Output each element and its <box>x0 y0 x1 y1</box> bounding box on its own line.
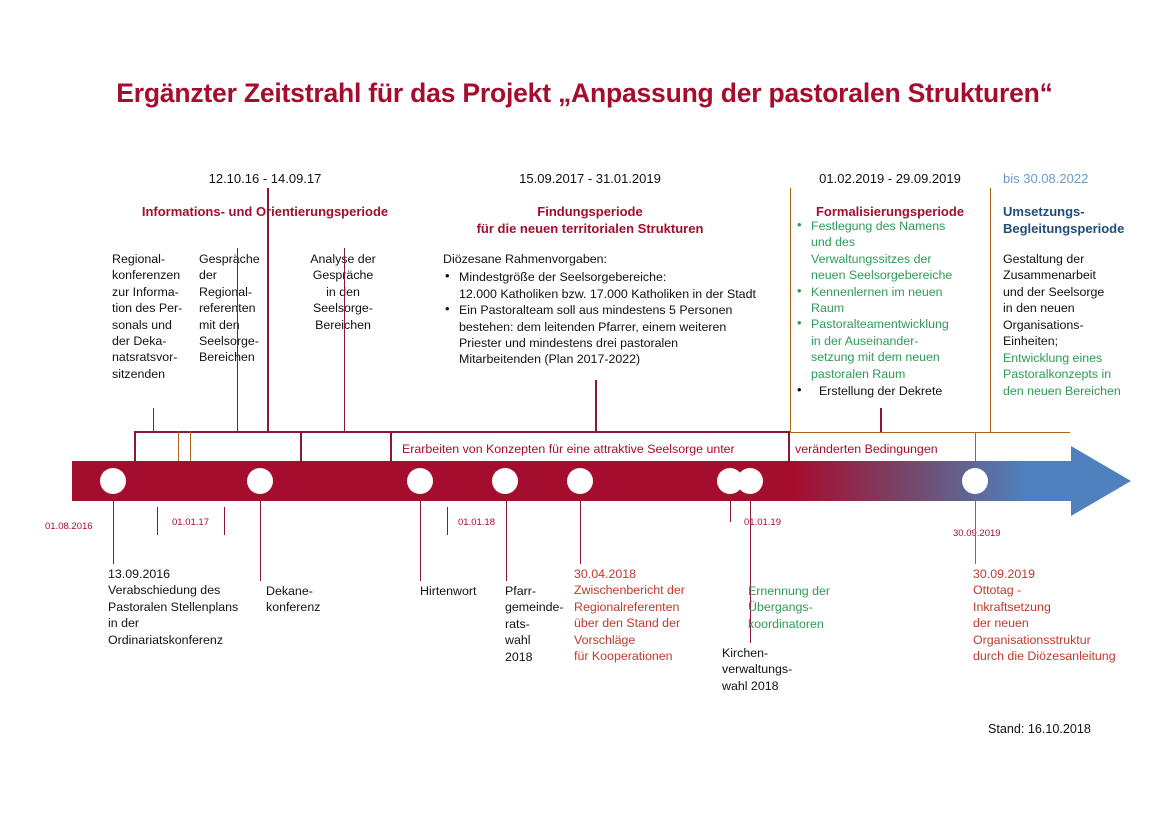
formalisierung-bullet-3: Pastoralteamentwicklung in der Auseinand… <box>797 316 992 382</box>
connector-line-2 <box>237 248 238 432</box>
period-header-findung: 15.09.2017 - 31.01.2019 Findungsperiode … <box>400 170 780 237</box>
milestone-date: 13.09.2016 <box>108 566 278 582</box>
timeline-node[interactable] <box>567 468 593 494</box>
formalisierung-bullet-1: Festlegung des Namens und des Verwaltung… <box>797 218 992 284</box>
findung-bullet-2: Ein Pastoralteam soll aus mindestens 5 P… <box>443 302 793 368</box>
timeline-node[interactable] <box>737 468 763 494</box>
period-range-informations: 12.10.16 - 14.09.17 <box>130 170 400 187</box>
leader-line-11 <box>975 494 976 564</box>
column-umsetzung-black: Gestaltung der Zusammenarbeit und der Se… <box>1003 251 1163 349</box>
milestone-ottotag: 30.09.2019 Ottotag - Inkraftsetzung der … <box>973 566 1163 664</box>
milestone-text: Zwischenbericht der Regionalreferenten ü… <box>574 582 729 664</box>
milestone-date: 30.04.2018 <box>574 566 729 582</box>
axis-date-label: 30.09.2019 <box>953 528 1001 539</box>
period-title-findung-line1: Findungsperiode <box>400 203 780 220</box>
leader-line-6 <box>447 507 448 535</box>
axis-date-label: 01.01.18 <box>458 517 495 528</box>
milestone-hirtenwort: Hirtenwort <box>420 583 502 599</box>
milestone-verabschiedung-stellenplan: 13.09.2016 Verabschiedung des Pastoralen… <box>108 566 278 648</box>
timeline-arrow-head <box>1071 446 1131 516</box>
bracket-label-part2: veränderten Bedingungen <box>795 442 938 456</box>
connector-line-3 <box>267 188 269 432</box>
axis-date-label: 01.01.17 <box>172 517 209 528</box>
timeline-node[interactable] <box>247 468 273 494</box>
leader-line-8 <box>580 494 581 564</box>
period-title-umsetzung-line2: Begleitungsperiode <box>1003 220 1163 237</box>
period-header-informations: 12.10.16 - 14.09.17 Informations- und Or… <box>130 170 400 220</box>
leader-line-5 <box>420 494 421 581</box>
milestone-kirchenverwaltungswahl: Kirchen- verwaltungs- wahl 2018 <box>722 645 827 694</box>
leader-line-1 <box>113 494 114 564</box>
period-title-umsetzung-line1: Umsetzungs- <box>1003 203 1163 220</box>
milestone-zwischenbericht: 30.04.2018 Zwischenbericht der Regionalr… <box>574 566 729 664</box>
formalisierung-bullet-list: Festlegung des Namens und des Verwaltung… <box>797 218 992 399</box>
timeline-node[interactable] <box>492 468 518 494</box>
column-analyse: Analyse der Gespräche in den Seelsorge- … <box>297 251 389 333</box>
column-regionalkonferenzen: Regional- konferenzen zur Informa- tion … <box>112 251 192 382</box>
connector-line-7 <box>880 408 882 432</box>
leader-line-7 <box>506 494 507 581</box>
milestone-text: Verabschiedung des Pastoralen Stellenpla… <box>108 582 278 648</box>
period-range-findung: 15.09.2017 - 31.01.2019 <box>400 170 780 187</box>
period-range-umsetzung: bis 30.08.2022 <box>1003 170 1163 187</box>
formalisierung-bullet-4: Erstellung der Dekrete <box>797 383 992 399</box>
bracket-label-part1: Erarbeiten von Konzepten für eine attrak… <box>402 442 735 456</box>
page-title: Ergänzter Zeitstrahl für das Projekt „An… <box>0 78 1169 109</box>
milestone-date: 30.09.2019 <box>973 566 1163 582</box>
leader-line-9 <box>730 494 731 522</box>
leader-line-2 <box>157 507 158 535</box>
formalisierung-body: Festlegung des Namens und des Verwaltung… <box>797 218 992 399</box>
column-umsetzung-green: Entwicklung eines Pastoralkonzepts in de… <box>1003 350 1165 399</box>
bracket-tick-1 <box>134 431 136 461</box>
findung-intro: Diözesane Rahmenvorgaben: <box>443 251 793 267</box>
connector-line-4 <box>344 248 345 432</box>
milestone-ernennung-uebergangskoordinatoren: Ernennung der Übergangs- koordinatoren <box>748 583 868 632</box>
findung-bullet-list: Mindestgröße der Seelsorgebereiche: 12.0… <box>443 269 793 367</box>
period-header-umsetzung: bis 30.08.2022 Umsetzungs- Begleitungspe… <box>1003 170 1163 237</box>
period-header-formalisierung: 01.02.2019 - 29.09.2019 Formalisierungsp… <box>790 170 990 220</box>
findung-body: Diözesane Rahmenvorgaben: Mindestgröße d… <box>443 251 793 368</box>
timeline-node[interactable] <box>962 468 988 494</box>
bracket-tick-5 <box>390 431 392 461</box>
connector-line-6 <box>790 188 791 432</box>
connector-line-8 <box>990 188 991 432</box>
milestone-dekanekonferenz: Dekane- konferenz <box>266 583 356 616</box>
period-title-findung-line2: für die neuen territorialen Strukturen <box>400 220 780 237</box>
bracket-tick-3 <box>190 431 191 461</box>
bracket-tick-6 <box>788 431 790 461</box>
bracket-tick-7 <box>975 432 976 461</box>
leader-line-3 <box>224 507 225 535</box>
bracket-tick-2 <box>178 431 179 461</box>
stand-label: Stand: 16.10.2018 <box>988 722 1091 736</box>
period-title-informations: Informations- und Orientierungsperiode <box>130 203 400 220</box>
connector-line-5 <box>595 380 597 432</box>
timeline-node[interactable] <box>100 468 126 494</box>
bracket-tick-4 <box>300 431 302 461</box>
formalisierung-bullet-2: Kennenlernen im neuen Raum <box>797 284 992 317</box>
milestone-pfarrgemeinderatswahl: Pfarr- gemeinde- rats- wahl 2018 <box>505 583 577 665</box>
bracket-line-right <box>790 432 1070 433</box>
period-range-formalisierung: 01.02.2019 - 29.09.2019 <box>790 170 990 187</box>
timeline-node[interactable] <box>407 468 433 494</box>
connector-line-1 <box>153 408 154 432</box>
axis-date-label: 01.08.2016 <box>45 521 93 532</box>
findung-bullet-1: Mindestgröße der Seelsorgebereiche: 12.0… <box>443 269 793 302</box>
milestone-text: Ottotag - Inkraftsetzung der neuen Organ… <box>973 582 1163 664</box>
bracket-line-left <box>134 431 790 433</box>
